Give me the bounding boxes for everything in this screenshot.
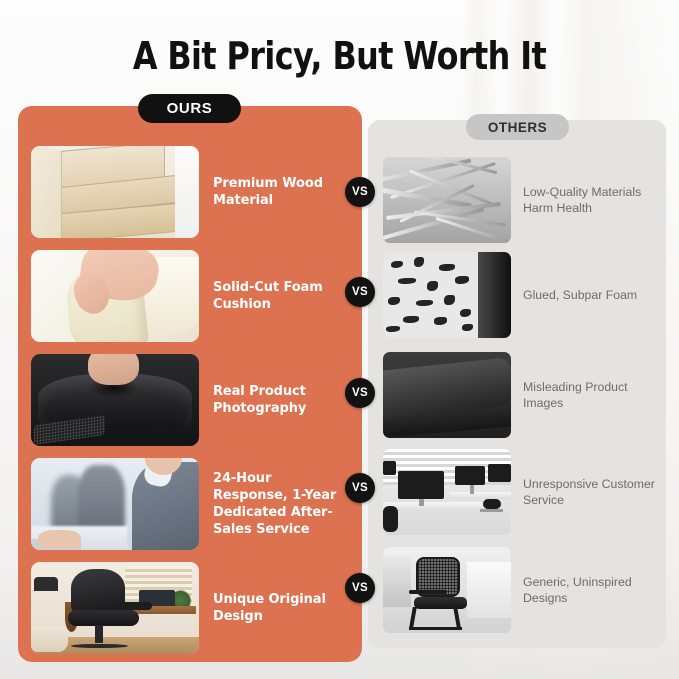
others-image-1 [383, 157, 511, 243]
ours-row-1: Premium Wood Material [18, 144, 362, 240]
others-row-4: Unresponsive Customer Service [368, 447, 666, 537]
others-row-2: Glued, Subpar Foam [368, 250, 666, 340]
badge-ours: OURS [138, 94, 241, 123]
others-image-3 [383, 352, 511, 438]
others-label-1: Low-Quality Materials Harm Health [523, 184, 659, 217]
vs-badge-1: VS [345, 177, 375, 207]
others-image-4 [383, 449, 511, 535]
ours-image-5 [31, 562, 199, 654]
others-row-3: Misleading Product Images [368, 350, 666, 440]
vs-badge-3: VS [345, 378, 375, 408]
ours-label-3: Real Product Photography [213, 383, 343, 417]
others-image-5 [383, 547, 511, 633]
others-label-3: Misleading Product Images [523, 379, 659, 412]
ours-row-4: 24-Hour Response, 1-Year Dedicated After… [18, 456, 362, 552]
others-row-5: Generic, Uninspired Designs [368, 545, 666, 635]
ours-label-5: Unique Original Design [213, 591, 343, 625]
others-label-2: Glued, Subpar Foam [523, 287, 659, 303]
vs-badge-4: VS [345, 473, 375, 503]
ours-row-5: Unique Original Design [18, 560, 362, 656]
ours-row-2: Solid-Cut Foam Cushion [18, 248, 362, 344]
page-title: A Bit Pricy, But Worth It [24, 34, 655, 78]
ours-image-3 [31, 354, 199, 446]
ours-image-2 [31, 250, 199, 342]
others-label-4: Unresponsive Customer Service [523, 476, 659, 509]
vs-badge-2: VS [345, 277, 375, 307]
others-label-5: Generic, Uninspired Designs [523, 574, 659, 607]
vs-badge-5: VS [345, 573, 375, 603]
ours-label-1: Premium Wood Material [213, 175, 343, 209]
ours-row-3: Real Product Photography [18, 352, 362, 448]
others-row-1: Low-Quality Materials Harm Health [368, 155, 666, 245]
ours-image-4 [31, 458, 199, 550]
badge-others: OTHERS [466, 114, 569, 140]
ours-image-1 [31, 146, 199, 238]
others-image-2 [383, 252, 511, 338]
ours-label-4: 24-Hour Response, 1-Year Dedicated After… [213, 470, 343, 539]
ours-label-2: Solid-Cut Foam Cushion [213, 279, 343, 313]
